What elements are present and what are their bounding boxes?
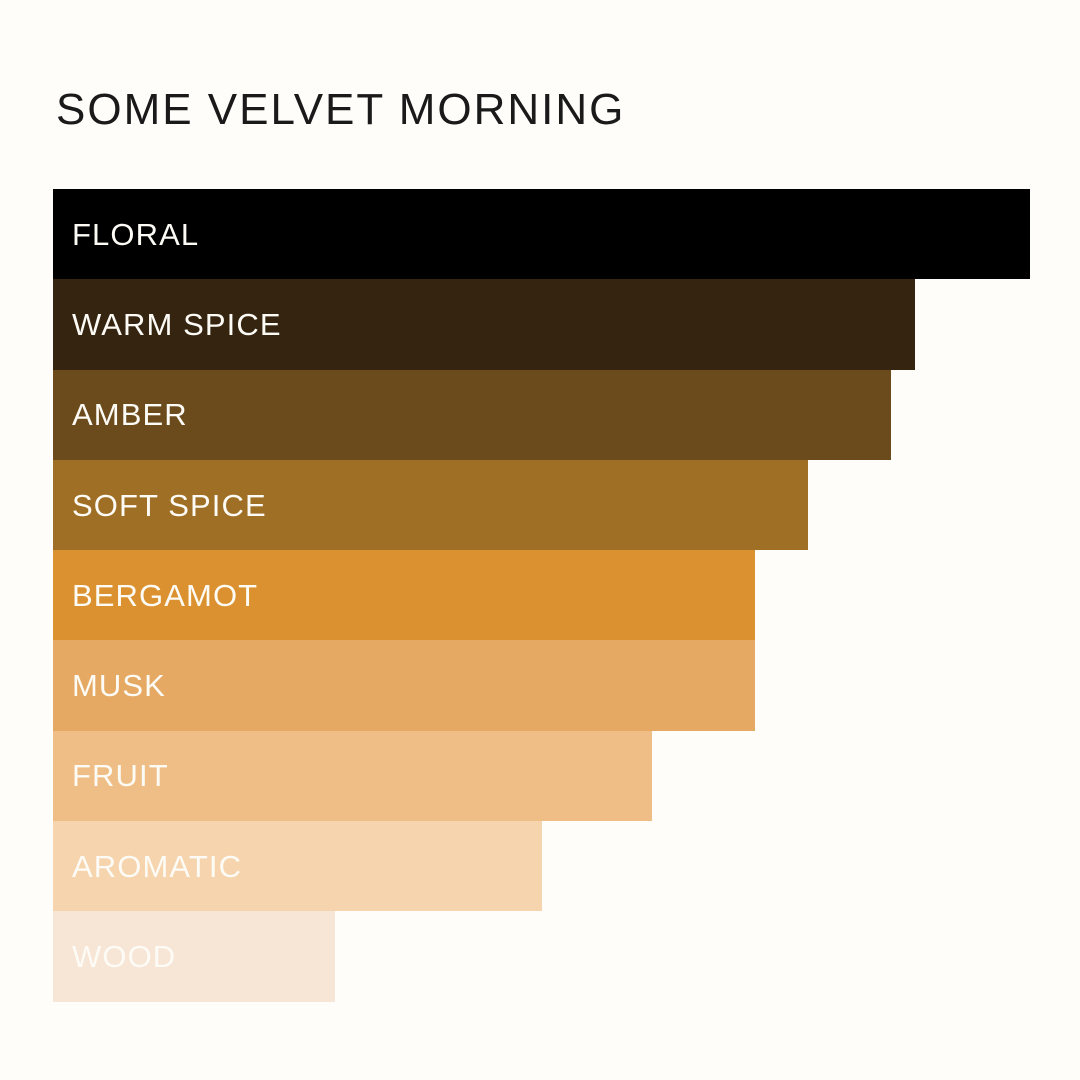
bar-label: WOOD: [53, 941, 176, 972]
bar-label: SOFT SPICE: [53, 490, 267, 521]
page-title: SOME VELVET MORNING: [56, 88, 625, 132]
bar-label: BERGAMOT: [53, 580, 258, 611]
bar-label: MUSK: [53, 670, 166, 701]
bar-label: FRUIT: [53, 760, 169, 791]
bar-segment[interactable]: WARM SPICE: [53, 279, 915, 369]
bar-row: FRUIT: [53, 731, 1053, 821]
bar-segment[interactable]: WOOD: [53, 911, 335, 1001]
bar-row: BERGAMOT: [53, 550, 1053, 640]
bar-row: AMBER: [53, 370, 1053, 460]
bar-label: AMBER: [53, 399, 188, 430]
bar-segment[interactable]: AMBER: [53, 370, 891, 460]
bar-label: WARM SPICE: [53, 309, 282, 340]
bar-segment[interactable]: MUSK: [53, 640, 755, 730]
bar-segment[interactable]: FRUIT: [53, 731, 652, 821]
bar-row: MUSK: [53, 640, 1053, 730]
bar-row: FLORAL: [53, 189, 1053, 279]
chart-canvas: SOME VELVET MORNING FLORALWARM SPICEAMBE…: [0, 0, 1080, 1080]
bar-row: SOFT SPICE: [53, 460, 1053, 550]
bar-segment[interactable]: BERGAMOT: [53, 550, 755, 640]
bar-segment[interactable]: AROMATIC: [53, 821, 542, 911]
bar-segment[interactable]: FLORAL: [53, 189, 1030, 279]
bar-row: AROMATIC: [53, 821, 1053, 911]
bar-label: AROMATIC: [53, 851, 242, 882]
bar-row: WOOD: [53, 911, 1053, 1001]
bar-chart: FLORALWARM SPICEAMBERSOFT SPICEBERGAMOTM…: [53, 189, 1053, 1002]
bar-label: FLORAL: [53, 219, 199, 250]
bar-row: WARM SPICE: [53, 279, 1053, 369]
bar-segment[interactable]: SOFT SPICE: [53, 460, 808, 550]
